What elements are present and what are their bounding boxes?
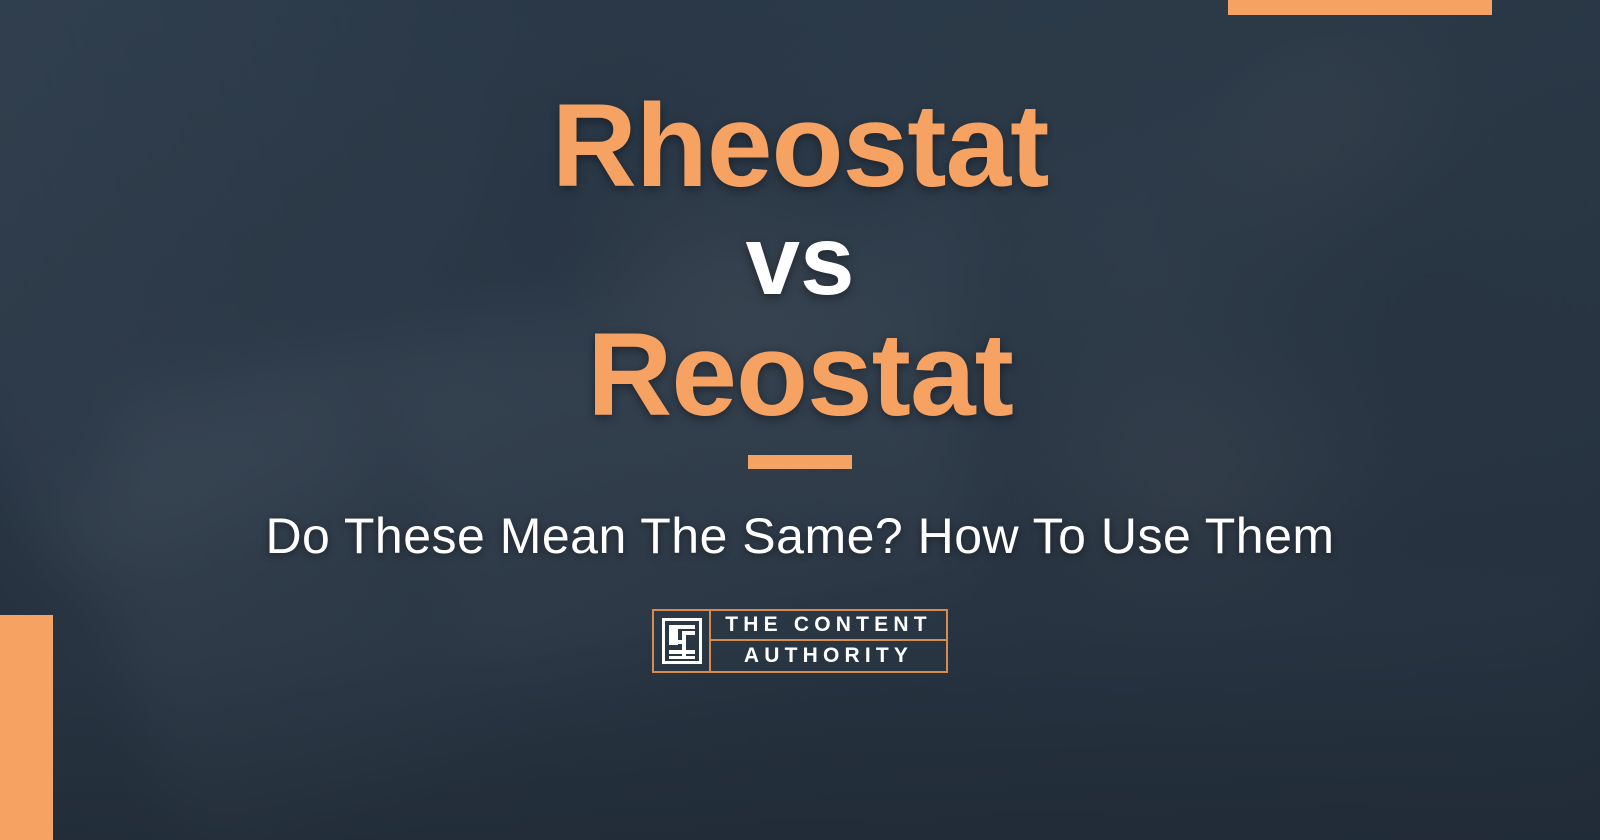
page-title: Rheostat vs Reostat xyxy=(552,88,1049,433)
title-line-vs: vs xyxy=(552,205,1049,317)
logo-text-line-2: AUTHORITY xyxy=(711,641,946,671)
hero-banner: Rheostat vs Reostat Do These Mean The Sa… xyxy=(0,0,1600,840)
title-line-1: Rheostat xyxy=(552,88,1049,205)
content-authority-mark-icon xyxy=(654,611,711,671)
title-line-2: Reostat xyxy=(552,317,1049,434)
logo-text-line-1: THE CONTENT xyxy=(711,611,946,641)
title-divider-rule xyxy=(748,455,852,469)
brand-logo[interactable]: THE CONTENT AUTHORITY xyxy=(652,609,948,673)
page-subtitle: Do These Mean The Same? How To Use Them xyxy=(265,507,1334,565)
